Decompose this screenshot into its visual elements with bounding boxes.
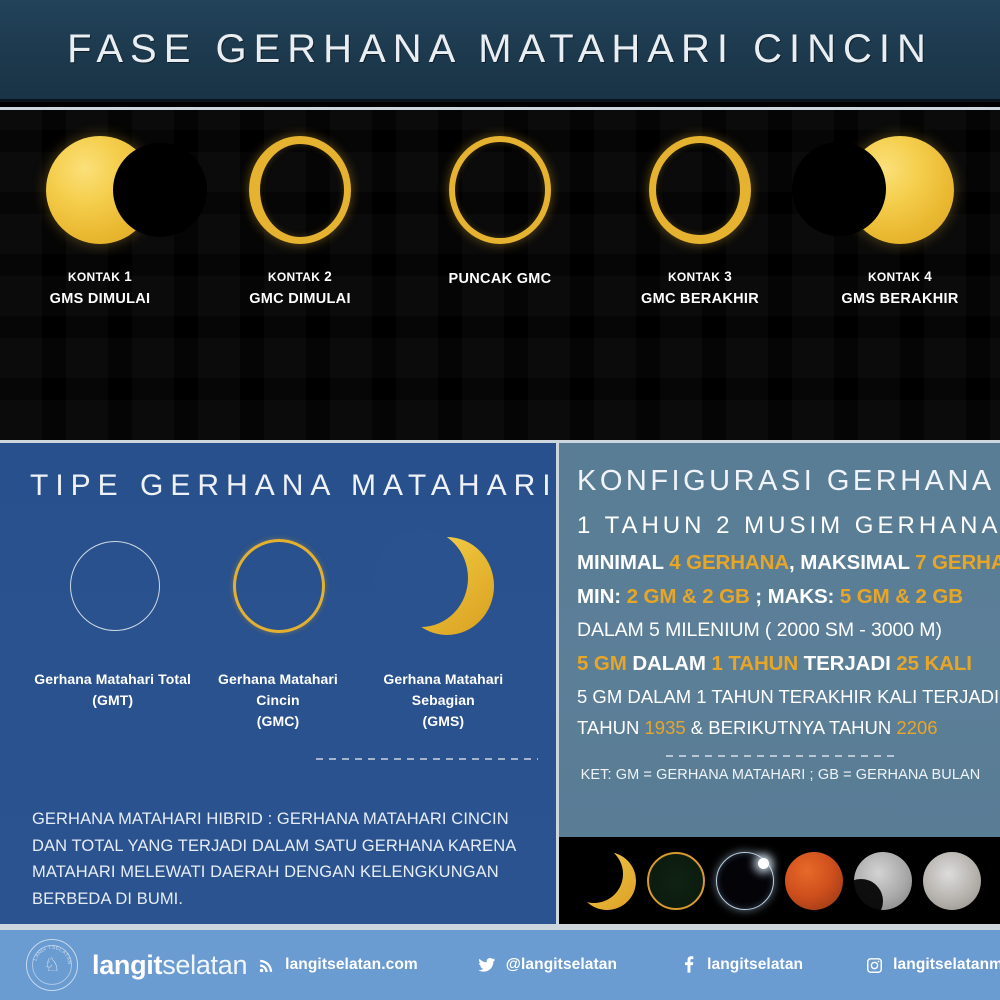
annular-ring-end-icon	[638, 128, 763, 253]
phase-sub: GMC BERAKHIR	[641, 289, 759, 310]
total-lunar-blood-moon-photo	[785, 852, 843, 910]
footer-bar: ♘ LANGITSELATAN langitselatan langitsela…	[0, 927, 1000, 1000]
header-bar: FASE GERHANA MATAHARI CINCIN	[0, 0, 1000, 102]
partial-sun-end-icon	[838, 128, 963, 253]
phase-sub: GMC DIMULAI	[249, 289, 351, 310]
highlight-max-combo: 5 GM & 2 GB	[840, 585, 963, 608]
dashed-divider	[316, 758, 538, 760]
phase-label: KONTAK 2 GMC DIMULAI	[249, 267, 351, 310]
brand-wordmark: langitselatan	[92, 950, 247, 981]
phase-contact: KONTAK	[668, 270, 720, 284]
phase-contact: KONTAK	[68, 270, 120, 284]
highlight-25-kali: 25 KALI	[896, 652, 972, 675]
social-label: langitselatanmedia	[893, 956, 1000, 974]
hybrid-eclipse-note: GERHANA MATAHARI HIBRID : GERHANA MATAHA…	[32, 806, 532, 913]
penumbral-lunar-eclipse-photo	[923, 852, 981, 910]
phase-number: 1	[124, 269, 132, 284]
legend-abbreviations: KET: GM = GERHANA MATAHARI ; GB = GERHAN…	[577, 767, 984, 783]
types-row: Gerhana Matahari Total (GMT) Gerhana Mat…	[30, 533, 526, 732]
social-links: langitselatan.com @langitselatan langits…	[247, 956, 1000, 975]
type-name: Gerhana Matahari Total	[34, 671, 191, 687]
annular-ring-max-icon	[438, 128, 563, 253]
lower-section: TIPE GERHANA MATAHARI Gerhana Matahari T…	[0, 440, 1000, 927]
text-part: ; MAKS:	[750, 585, 840, 608]
facebook-icon	[679, 956, 698, 975]
text-part: TAHUN	[577, 717, 645, 738]
type-label: Gerhana Matahari Cincin (GMC)	[195, 669, 360, 732]
phase-item: KONTAK 1 GMS DIMULAI	[0, 128, 200, 310]
text-part: MIN:	[577, 585, 627, 608]
phase-label: PUNCAK GMC	[449, 267, 552, 290]
type-item-partial: Gerhana Matahari Sebagian (GMS)	[361, 533, 526, 732]
social-link-website[interactable]: langitselatan.com	[257, 956, 418, 975]
highlight-year-2206: 2206	[896, 717, 937, 738]
seal-ring-text: LANGITSELATAN	[27, 940, 77, 990]
phase-contact: KONTAK	[268, 270, 320, 284]
type-name: Gerhana Matahari Sebagian	[383, 671, 503, 708]
rss-icon	[257, 956, 276, 975]
dashed-divider	[666, 755, 896, 757]
langitselatan-seal-icon: ♘ LANGITSELATAN	[26, 939, 78, 991]
text-part: TERJADI	[798, 652, 896, 675]
config-line-5gm-frequency: 5 GM DALAM 1 TAHUN TERJADI 25 KALI	[577, 650, 984, 677]
partial-solar-crescent-photo	[578, 852, 636, 910]
phase-contact: KONTAK	[868, 270, 920, 284]
highlight-1-tahun: 1 TAHUN	[711, 652, 798, 675]
total-solar-diamond-ring-photo	[716, 852, 774, 910]
type-abbr: (GMC)	[195, 711, 360, 732]
type-abbr: (GMS)	[361, 711, 526, 732]
infographic-root: FASE GERHANA MATAHARI CINCIN KONTAK 1 GM…	[0, 0, 1000, 1000]
annular-eclipse-photo	[647, 852, 705, 910]
text-part: , MAKSIMAL	[789, 551, 915, 574]
social-label: @langitselatan	[506, 956, 617, 974]
annular-eclipse-ring-icon	[223, 533, 333, 643]
phase-number: 2	[324, 269, 332, 284]
highlight-max-eclipses: 7 GERHANA	[915, 551, 1000, 574]
phase-item: KONTAK 2 GMC DIMULAI	[200, 128, 400, 310]
highlight-5gm: 5 GM	[577, 652, 627, 675]
social-label: langitselatan	[707, 956, 803, 974]
config-line-years: TAHUN 1935 & BERIKUTNYA TAHUN 2206	[577, 716, 984, 741]
phase-sub: PUNCAK GMC	[449, 269, 552, 290]
type-item-total: Gerhana Matahari Total (GMT)	[30, 533, 195, 732]
type-label: Gerhana Matahari Sebagian (GMS)	[361, 669, 526, 732]
highlight-min-combo: 2 GM & 2 GB	[627, 585, 750, 608]
brand-light: selatan	[162, 950, 247, 980]
phase-sub: GMS BERAKHIR	[841, 289, 958, 310]
social-label: langitselatan.com	[285, 956, 418, 974]
partial-sun-start-icon	[38, 128, 163, 253]
types-panel-title: TIPE GERHANA MATAHARI	[30, 469, 526, 503]
brand-block[interactable]: ♘ LANGITSELATAN langitselatan	[26, 939, 247, 991]
social-link-instagram[interactable]: langitselatanmedia	[865, 956, 1000, 975]
phase-number: 3	[724, 269, 732, 284]
page-title: FASE GERHANA MATAHARI CINCIN	[67, 27, 933, 72]
config-line-min-max-types: MIN: 2 GM & 2 GB ; MAKS: 5 GM & 2 GB	[577, 583, 984, 610]
type-label: Gerhana Matahari Total (GMT)	[34, 669, 191, 711]
text-part: & BERIKUTNYA TAHUN	[686, 717, 897, 738]
eclipse-phases-band: KONTAK 1 GMS DIMULAI KONTAK 2 GMC DIMULA…	[0, 107, 1000, 440]
types-panel: TIPE GERHANA MATAHARI Gerhana Matahari T…	[0, 440, 556, 927]
config-line-last-occurrence: 5 GM DALAM 1 TAHUN TERAKHIR KALI TERJADI	[577, 685, 984, 710]
partial-lunar-eclipse-photo	[854, 852, 912, 910]
phase-item: PUNCAK GMC	[400, 128, 600, 290]
text-part: DALAM	[627, 652, 712, 675]
phase-sub: GMS DIMULAI	[50, 289, 151, 310]
eclipse-photo-strip	[556, 837, 1000, 927]
highlight-min-eclipses: 4 GERHANA	[669, 551, 789, 574]
phase-row: KONTAK 1 GMS DIMULAI KONTAK 2 GMC DIMULA…	[0, 110, 1000, 440]
config-panel-title: KONFIGURASI GERHANA	[577, 465, 984, 498]
config-headline: 1 TAHUN 2 MUSIM GERHANA	[577, 512, 984, 540]
annular-ring-start-icon	[238, 128, 363, 253]
social-link-facebook[interactable]: langitselatan	[679, 956, 803, 975]
social-link-twitter[interactable]: @langitselatan	[478, 956, 617, 975]
phase-label: KONTAK 1 GMS DIMULAI	[50, 267, 151, 310]
type-item-annular: Gerhana Matahari Cincin (GMC)	[195, 533, 360, 732]
twitter-icon	[478, 956, 497, 975]
type-abbr: (GMT)	[34, 690, 191, 711]
highlight-year-1935: 1935	[645, 717, 686, 738]
brand-bold: langit	[92, 950, 162, 980]
phase-number: 4	[924, 269, 932, 284]
instagram-icon	[865, 956, 884, 975]
config-line-millennium: DALAM 5 MILENIUM ( 2000 SM - 3000 M)	[577, 618, 984, 644]
type-name: Gerhana Matahari Cincin	[218, 671, 338, 708]
partial-eclipse-crescent-icon	[388, 533, 498, 643]
phase-item: KONTAK 3 GMC BERAKHIR	[600, 128, 800, 310]
text-part: MINIMAL	[577, 551, 669, 574]
phase-item: KONTAK 4 GMS BERAKHIR	[800, 128, 1000, 310]
config-line-minmax-eclipses: MINIMAL 4 GERHANA, MAKSIMAL 7 GERHANA	[577, 549, 984, 576]
phase-label: KONTAK 3 GMC BERAKHIR	[641, 267, 759, 310]
total-eclipse-circle-icon	[58, 533, 168, 643]
phase-label: KONTAK 4 GMS BERAKHIR	[841, 267, 958, 310]
